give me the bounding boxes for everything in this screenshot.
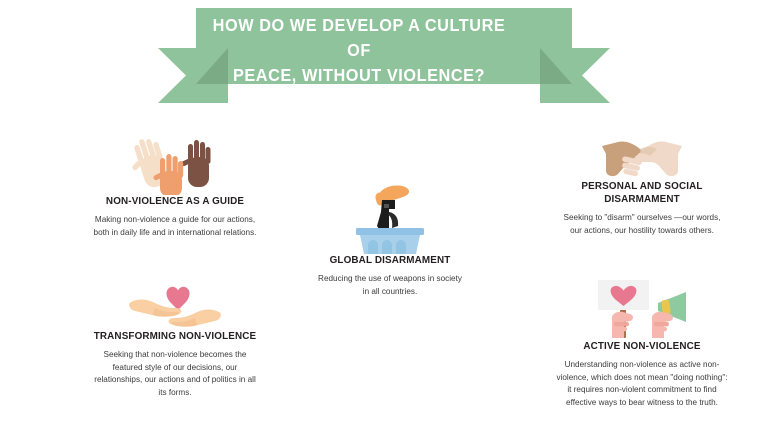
banner-title-line-2: PEACE, WITHOUT VIOLENCE? xyxy=(207,63,510,88)
infographic-canvas: HOW DO WE DEVELOP A CULTURE OF PEACE, WI… xyxy=(0,0,768,426)
three-raised-hands-icon xyxy=(60,133,290,195)
basket-shape xyxy=(356,228,424,254)
block-active-non-violence: ACTIVE NON-VIOLENCE Understanding non-vi… xyxy=(540,278,744,408)
block-body: Reducing the use of weapons in society i… xyxy=(297,272,483,297)
block-title: NON-VIOLENCE AS A GUIDE xyxy=(67,195,283,208)
block-non-violence-as-a-guide: NON-VIOLENCE AS A GUIDE Making non-viole… xyxy=(60,133,290,238)
banner-title: HOW DO WE DEVELOP A CULTURE OF PEACE, WI… xyxy=(207,13,510,88)
block-personal-and-social-disarmament: PERSONAL AND SOCIAL DISARMAMENT Seeking … xyxy=(540,136,744,236)
block-body: Seeking that non-violence becomes the fe… xyxy=(66,348,285,398)
banner-ribbon: HOW DO WE DEVELOP A CULTURE OF PEACE, WI… xyxy=(0,0,768,112)
block-title-line-1: PERSONAL AND SOCIAL xyxy=(546,180,738,193)
hand-dropping-gun-in-basket-icon xyxy=(292,182,488,254)
block-title: TRANSFORMING NON-VIOLENCE xyxy=(67,330,283,343)
block-body: Making non-violence a guide for our acti… xyxy=(66,213,285,238)
block-transforming-non-violence: TRANSFORMING NON-VIOLENCE Seeking that n… xyxy=(60,278,290,398)
block-body: Understanding non-violence as active non… xyxy=(545,358,739,408)
protest-sign-and-megaphone-icon xyxy=(540,278,744,340)
banner-title-line-1: HOW DO WE DEVELOP A CULTURE OF xyxy=(207,13,510,63)
right-hand xyxy=(652,312,673,338)
left-hand xyxy=(612,312,633,338)
heart-shape xyxy=(167,287,190,310)
block-body: Seeking to "disarm" ourselves —our words… xyxy=(545,211,739,236)
block-title-line-2: DISARMAMENT xyxy=(546,193,738,206)
block-title: ACTIVE NON-VIOLENCE xyxy=(546,340,738,353)
block-title: GLOBAL DISARMAMENT xyxy=(298,254,482,267)
block-title: PERSONAL AND SOCIAL DISARMAMENT xyxy=(546,180,738,206)
block-global-disarmament: GLOBAL DISARMAMENT Reducing the use of w… xyxy=(292,182,488,297)
handshake-icon xyxy=(540,136,744,180)
hands-holding-heart-icon xyxy=(60,278,290,330)
